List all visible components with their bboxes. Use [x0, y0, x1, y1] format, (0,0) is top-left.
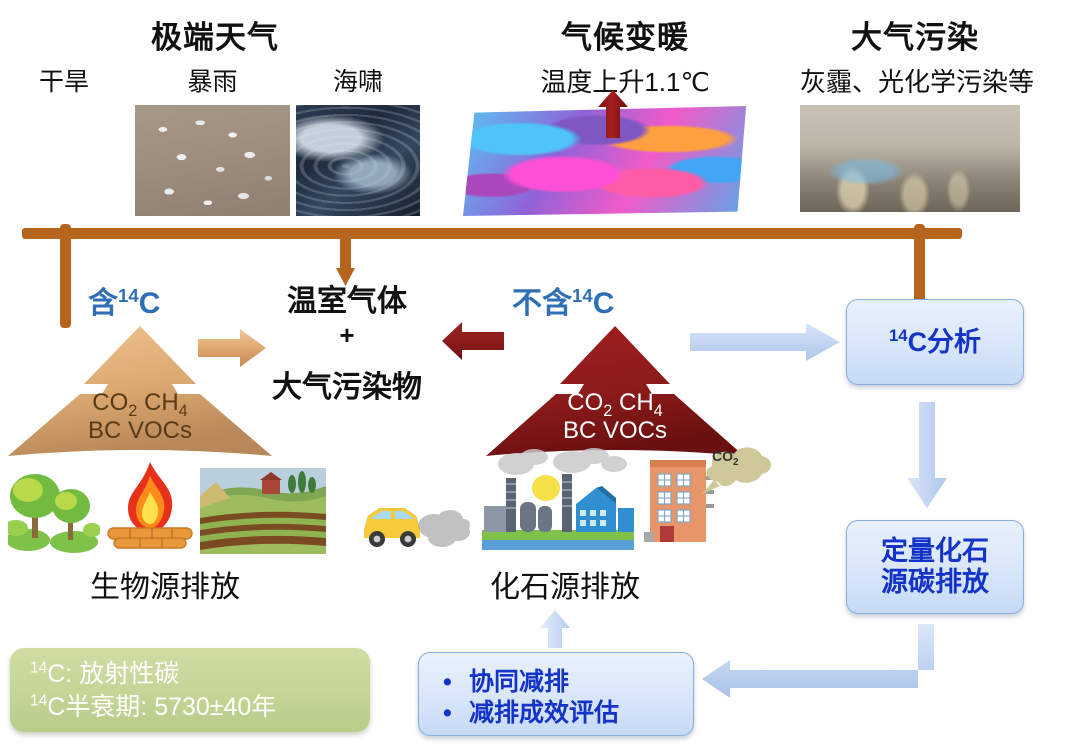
center-greenhouse-gas: 温室气体	[242, 276, 452, 320]
fossil-source-label: 化石源排放	[400, 562, 730, 606]
section-title-air-pollution: 大气污染	[790, 12, 1040, 57]
co2-cloud-text: CO	[712, 448, 733, 464]
c14-analysis-label: C分析	[908, 327, 982, 357]
caption-flood: 暴雨	[135, 62, 290, 98]
co2-cloud-label: CO2	[712, 448, 738, 468]
fossil-c14-label: 不含14C	[512, 278, 614, 322]
tree-icon	[8, 466, 100, 554]
co2-cloud-subscript: 2	[733, 457, 738, 468]
biogenic-label-sup: 14	[118, 285, 139, 306]
fossil-co2: CO	[567, 389, 603, 416]
outcome-box[interactable]: •协同减排 •减排成效评估	[418, 652, 694, 736]
c14-analysis-sup: 14	[889, 326, 908, 345]
section-title-climate-warming: 气候变暖	[480, 12, 770, 57]
quantify-fossil-carbon-text: 定量化石 源碳排放	[881, 536, 989, 598]
legend-line1-sup: 14	[30, 660, 47, 677]
c14-analysis-text: 14C分析	[889, 326, 981, 358]
fossil-ch4: CH	[619, 389, 654, 416]
c14-analysis-box[interactable]: 14C分析	[846, 299, 1024, 385]
caption-tsunami: 海啸	[296, 62, 420, 98]
section-title-extreme-weather: 极端天气	[0, 12, 430, 57]
smog-photo	[800, 105, 1020, 212]
subtitle-haze: 灰霾、光化学污染等	[772, 62, 1062, 99]
fossil-species-line1: CO2 CH4	[480, 390, 750, 420]
fire-icon	[100, 458, 200, 554]
outcome-bullet-1: •协同减排	[443, 667, 619, 698]
center-air-pollutants: 大气污染物	[232, 362, 462, 406]
farmland-icon	[200, 468, 326, 554]
biogenic-co2: CO	[92, 389, 128, 416]
quantify-fossil-carbon-box[interactable]: 定量化石 源碳排放	[846, 520, 1024, 614]
quantify-line1: 定量化石	[881, 536, 989, 567]
outcome-bullet-list: •协同减排 •减排成效评估	[443, 667, 619, 729]
fossil-label-sup: 14	[572, 285, 593, 306]
tsunami-photo	[296, 105, 420, 216]
legend-line-1: 14C: 放射性碳	[30, 658, 276, 691]
car-icon	[358, 492, 470, 554]
legend-line1-text: C: 放射性碳	[47, 660, 179, 688]
biogenic-label-prefix: 含	[88, 287, 118, 320]
quantify-line2: 源碳排放	[881, 567, 989, 598]
blue-elbow-arrow-icon	[690, 612, 1030, 722]
caption-drought: 干旱	[4, 62, 124, 98]
bullet-dot-2: •	[443, 698, 469, 729]
legend-line2-text: C半衰期: 5730±40年	[47, 693, 276, 721]
outcome-bullet-1-text: 协同减排	[469, 668, 569, 696]
bullet-dot-1: •	[443, 667, 469, 698]
outcome-bullet-2: •减排成效评估	[443, 698, 619, 729]
blue-right-arrow-icon	[688, 320, 844, 364]
legend-line2-sup: 14	[30, 692, 47, 709]
bracket-horizontal-bar	[22, 228, 962, 239]
biogenic-source-label: 生物源排放	[0, 562, 330, 606]
blue-up-arrow-icon	[538, 608, 572, 650]
biogenic-c14-label: 含14C	[88, 278, 160, 322]
legend-line-2: 14C半衰期: 5730±40年	[30, 691, 276, 724]
outcome-bullet-2-text: 减排成效评估	[469, 699, 619, 727]
fossil-label-suffix: C	[593, 287, 615, 320]
c14-legend-text: 14C: 放射性碳 14C半衰期: 5730±40年	[30, 658, 276, 723]
fossil-label-prefix: 不含	[512, 287, 572, 320]
blue-down-arrow-icon	[904, 400, 950, 512]
bracket-left-riser	[60, 224, 71, 328]
drought-photo	[4, 105, 122, 216]
biogenic-ch4: CH	[144, 389, 179, 416]
center-plus-sign: +	[242, 320, 452, 351]
factory-icon	[476, 448, 640, 554]
flood-photo	[135, 105, 290, 216]
biogenic-label-suffix: C	[139, 287, 161, 320]
biogenic-species-line2: BC VOCs	[0, 418, 280, 445]
red-up-arrow-icon	[596, 88, 630, 140]
